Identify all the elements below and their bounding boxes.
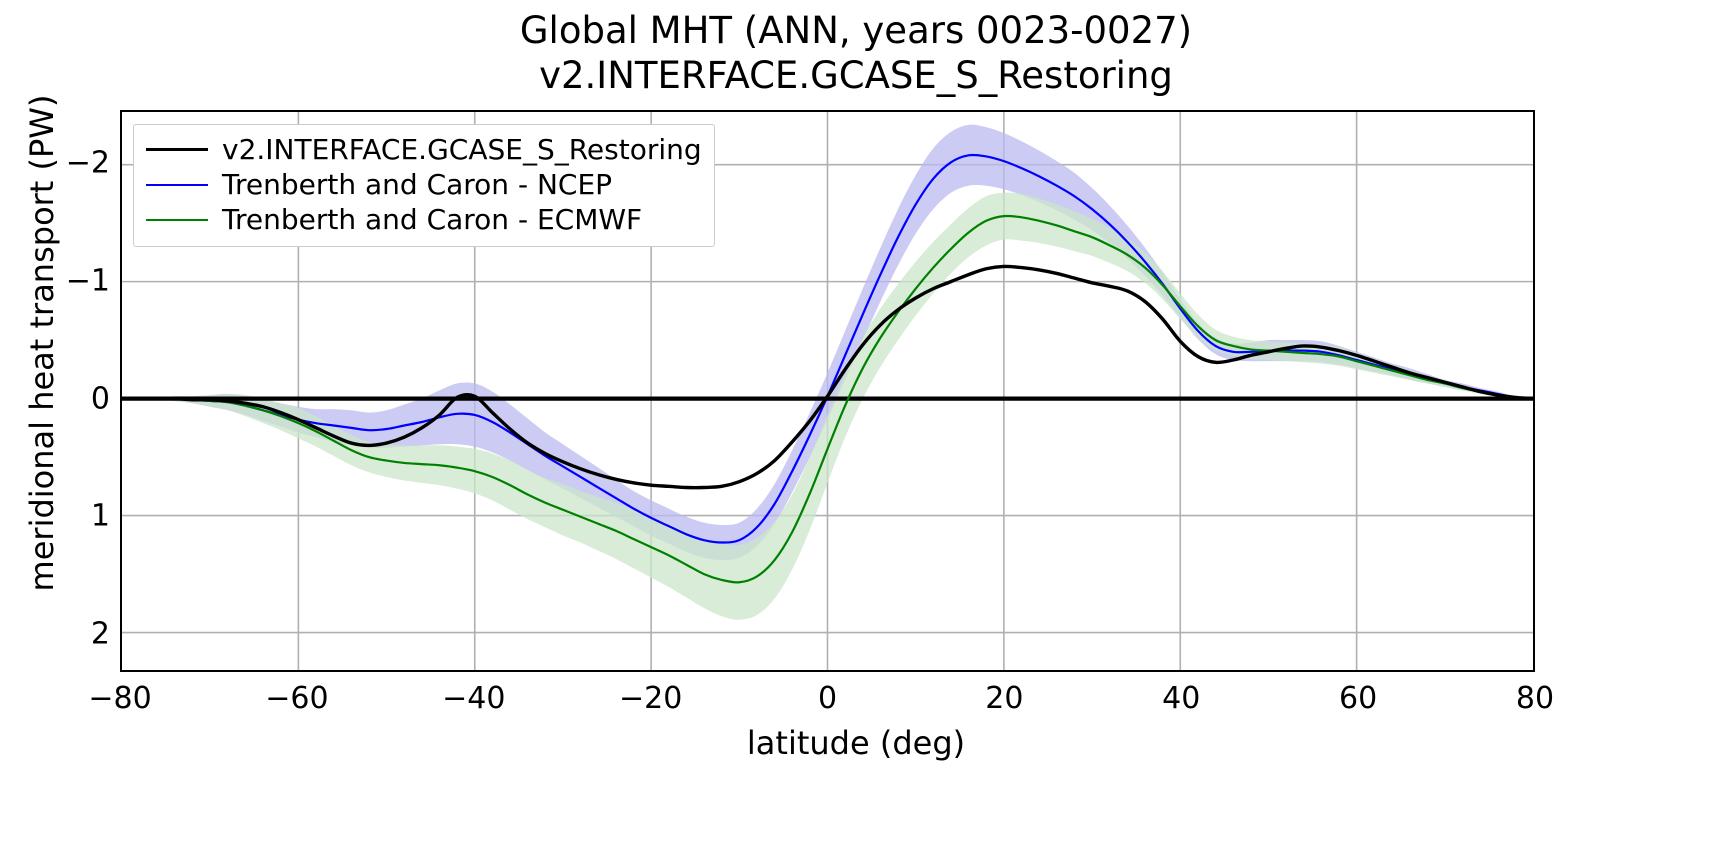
legend-line-swatch <box>146 148 208 151</box>
legend-label: v2.INTERFACE.GCASE_S_Restoring <box>222 135 702 165</box>
y-axis-label: meridional heat transport (PW) <box>23 43 61 643</box>
figure-canvas: Global MHT (ANN, years 0023-0027) v2.INT… <box>0 0 1712 848</box>
chart-title-line-2: v2.INTERFACE.GCASE_S_Restoring <box>0 53 1712 98</box>
y-tick-value: −2 <box>66 146 110 181</box>
legend-item: Trenberth and Caron - NCEP <box>146 167 702 202</box>
x-tick-label: −80 <box>88 681 151 716</box>
x-tick-label: −20 <box>619 681 682 716</box>
x-tick-label: 0 <box>818 681 837 716</box>
y-tick-label: −1 <box>110 263 154 298</box>
x-axis-label: latitude (deg) <box>0 724 1712 762</box>
legend-label: Trenberth and Caron - NCEP <box>222 170 612 200</box>
x-tick-label: −40 <box>442 681 505 716</box>
chart-legend: v2.INTERFACE.GCASE_S_RestoringTrenberth … <box>133 124 715 247</box>
y-tick-label: 2 <box>110 617 129 652</box>
x-tick-label: 80 <box>1516 681 1554 716</box>
legend-item: v2.INTERFACE.GCASE_S_Restoring <box>146 132 702 167</box>
y-tick-value: 1 <box>91 499 110 534</box>
legend-line-swatch <box>146 184 208 186</box>
chart-title: Global MHT (ANN, years 0023-0027) v2.INT… <box>0 8 1712 98</box>
x-tick-label: −60 <box>265 681 328 716</box>
x-tick-label: 20 <box>985 681 1023 716</box>
y-tick-value: 2 <box>91 617 110 652</box>
legend-label: Trenberth and Caron - ECMWF <box>222 205 642 235</box>
y-tick-label: 1 <box>110 499 129 534</box>
y-tick-value: 0 <box>91 381 110 416</box>
chart-title-line-1: Global MHT (ANN, years 0023-0027) <box>0 8 1712 53</box>
x-tick-label: 60 <box>1339 681 1377 716</box>
legend-line-swatch <box>146 219 208 221</box>
y-tick-label: 0 <box>110 381 129 416</box>
legend-item: Trenberth and Caron - ECMWF <box>146 202 702 237</box>
x-tick-label: 40 <box>1162 681 1200 716</box>
y-tick-value: −1 <box>66 263 110 298</box>
